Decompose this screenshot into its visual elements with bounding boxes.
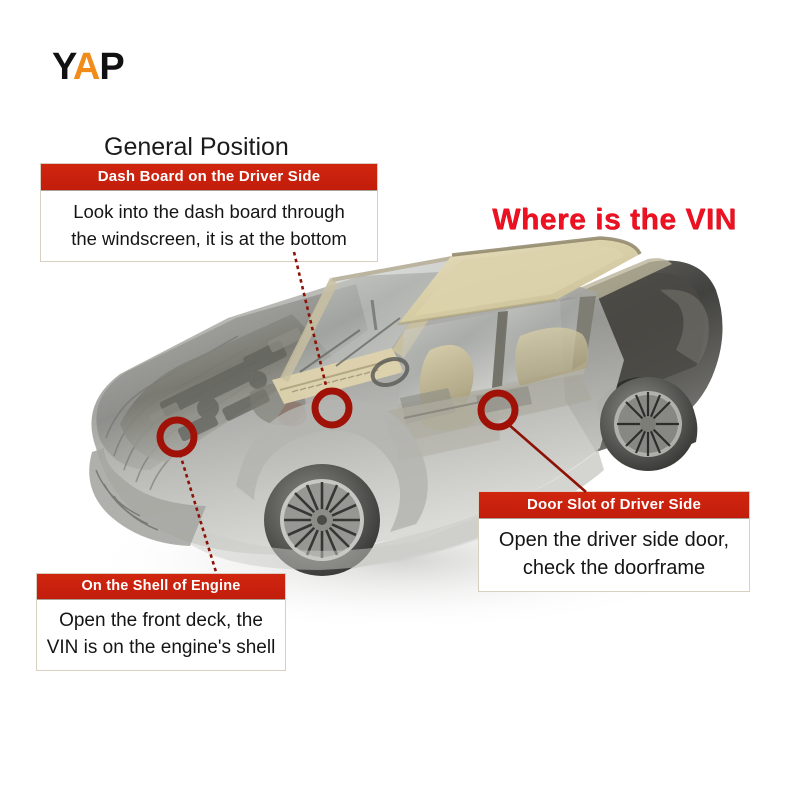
callout-engine-shell-body: Open the front deck, the VIN is on the e… [37, 600, 285, 670]
callout-engine-shell: On the Shell of Engine Open the front de… [36, 573, 286, 671]
vin-location-infographic: YAP [0, 0, 800, 800]
callout-dash-board-body: Look into the dash board through the win… [41, 191, 377, 261]
callout-door-slot-body: Open the driver side door, check the doo… [479, 519, 749, 591]
callout-door-slot: Door Slot of Driver Side Open the driver… [478, 491, 750, 592]
callout-dash-board-title: Dash Board on the Driver Side [41, 164, 377, 191]
car-cutaway-illustration [0, 0, 800, 800]
callout-engine-shell-title: On the Shell of Engine [37, 574, 285, 600]
callout-door-slot-title: Door Slot of Driver Side [479, 492, 749, 519]
callout-dash-board: Dash Board on the Driver Side Look into … [40, 163, 378, 262]
rear-wheel [600, 377, 696, 471]
